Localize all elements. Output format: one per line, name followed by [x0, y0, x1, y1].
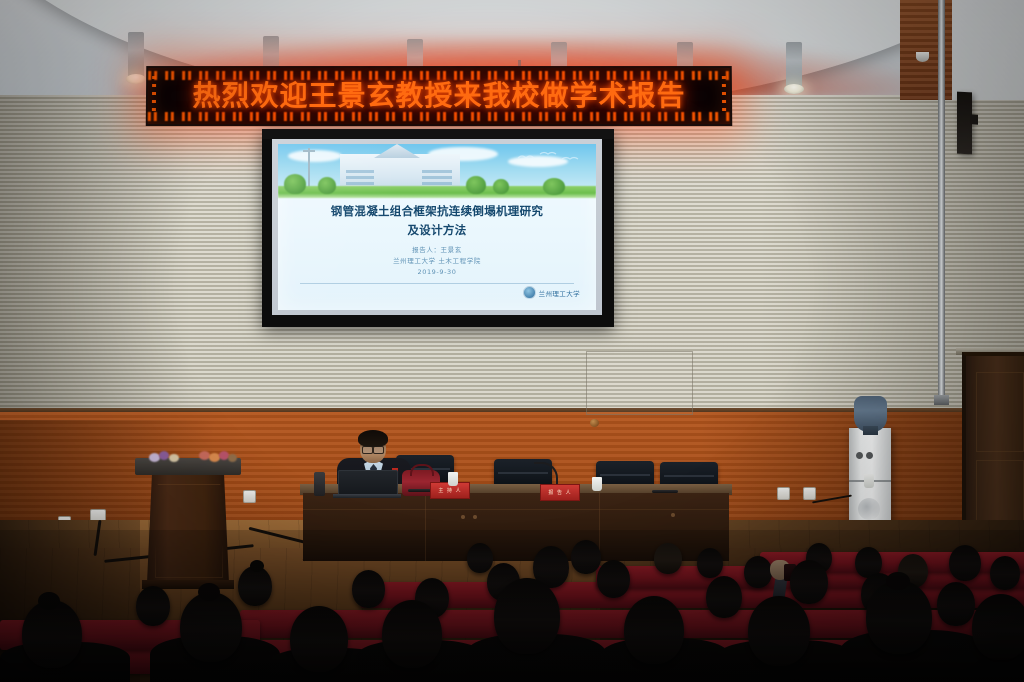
slide-title: 钢管混凝土组合框架抗连续倒塌机理研究 及设计方法	[288, 202, 586, 240]
lecture-hall-photo: 热烈欢迎王景玄教授来我校做学术报告	[0, 0, 1024, 682]
audience-head	[624, 596, 684, 664]
wall-knob	[590, 419, 599, 427]
led-banner-text: 热烈欢迎王景玄教授来我校做学术报告	[148, 80, 730, 112]
wall-speaker-icon	[957, 92, 972, 155]
lectern-panel	[155, 484, 223, 578]
led-dot-row-bottom	[148, 112, 730, 121]
paper-cup	[592, 477, 602, 491]
downlight-icon	[128, 32, 144, 78]
slide-title-line2: 及设计方法	[288, 221, 586, 240]
audience-head	[790, 560, 828, 604]
audience-head	[990, 556, 1020, 590]
slide-date: 2019-9-30	[288, 267, 586, 278]
water-bottle-neck	[863, 426, 878, 435]
desk-microphone[interactable]	[652, 490, 678, 493]
table-fitting	[671, 513, 675, 517]
metal-column	[938, 0, 945, 400]
presenter-hair	[358, 430, 388, 447]
slide-birds-icon	[514, 150, 584, 166]
slide-title-line1: 钢管混凝土组合框架抗连续倒塌机理研究	[288, 202, 586, 221]
dispenser-tap[interactable]	[866, 452, 873, 459]
wall-outlet[interactable]	[243, 490, 256, 503]
audience-head	[597, 560, 630, 598]
table-fitting	[473, 515, 477, 519]
university-name: 兰州理工大学	[539, 288, 580, 298]
wall-outlet[interactable]	[777, 487, 790, 500]
audience-head	[238, 566, 272, 606]
audience-head	[706, 576, 742, 618]
led-welcome-banner: 热烈欢迎王景玄教授来我校做学术报告	[146, 66, 733, 126]
audience-head	[22, 600, 82, 668]
audience-head	[866, 580, 932, 654]
audience-head	[744, 556, 772, 588]
slide-university-logo: 兰州理工大学	[523, 286, 580, 299]
ceiling-camera-icon	[916, 52, 929, 62]
audience-head	[949, 545, 981, 581]
presentation-slide: 钢管混凝土组合框架抗连续倒塌机理研究 及设计方法 报告人：王景玄 兰州理工大学 …	[278, 144, 596, 310]
audience-head	[352, 570, 385, 608]
flower-icon	[228, 454, 237, 462]
slide-metadata: 报告人：王景玄 兰州理工大学 土木工程学院 2019-9-30	[288, 245, 586, 278]
dispenser-tap[interactable]	[856, 452, 863, 459]
audience-head	[382, 600, 442, 668]
audience-head	[290, 606, 348, 672]
flower-icon	[169, 454, 179, 462]
audience-head	[972, 594, 1024, 660]
name-placard: 报 告 人	[540, 484, 580, 501]
audience-head	[494, 578, 560, 654]
hair-bun	[250, 560, 264, 572]
column-base	[934, 395, 949, 405]
right-corner-wall	[952, 0, 1024, 100]
audience-head	[180, 592, 242, 662]
raised-hand	[770, 560, 792, 600]
flower-icon	[159, 451, 169, 460]
audience-head	[467, 543, 493, 573]
upper-wall-shadow-left	[0, 95, 190, 435]
projection-screen-casing	[262, 129, 614, 139]
audience-head	[748, 596, 810, 666]
laptop-base[interactable]	[333, 494, 401, 498]
dispenser-graphic	[858, 498, 880, 520]
glasses-icon	[362, 446, 384, 452]
hair-bun	[38, 592, 60, 610]
table-fitting	[461, 515, 465, 519]
wall-access-panel	[586, 351, 693, 415]
wall-outlet[interactable]	[803, 487, 816, 500]
audience-head	[571, 540, 601, 574]
audience-head	[654, 543, 682, 574]
slide-affiliation: 兰州理工大学 土木工程学院	[288, 256, 586, 267]
projection-screen: 钢管混凝土组合框架抗连续倒塌机理研究 及设计方法 报告人：王景玄 兰州理工大学 …	[272, 139, 602, 315]
hair-bun	[198, 583, 220, 601]
audience-head	[136, 586, 170, 626]
slide-divider	[300, 283, 574, 284]
lectern	[141, 458, 235, 596]
hair-bun	[886, 572, 910, 590]
university-emblem-icon	[523, 286, 536, 299]
paper-cup	[864, 474, 874, 488]
audience-head	[937, 582, 975, 626]
paper-cup	[448, 472, 458, 486]
downlight-icon	[786, 42, 802, 88]
thermos-flask	[314, 472, 325, 496]
audience-head	[697, 548, 723, 578]
slide-presenter: 报告人：王景玄	[288, 245, 586, 256]
